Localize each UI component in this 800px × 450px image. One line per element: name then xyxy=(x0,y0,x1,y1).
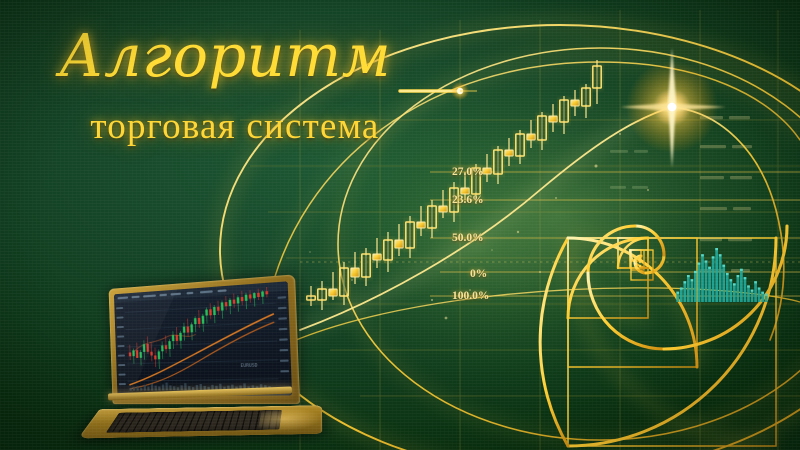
laptop-lid: EURUSD xyxy=(109,274,301,404)
fib-level-label: 100.0% xyxy=(452,290,489,302)
banner-canvas: 27.0%23.6%50.0%0%100.0% Алгоритм торгова… xyxy=(0,0,800,450)
laptop-keyboard[interactable] xyxy=(106,410,282,433)
fib-level-label: 50.0% xyxy=(452,232,484,244)
fib-level-label: 23.6% xyxy=(452,194,484,206)
trading-terminal-screen[interactable]: EURUSD xyxy=(114,281,292,396)
laptop: EURUSD xyxy=(88,282,333,450)
page-subtitle: торговая система xyxy=(0,105,470,148)
laptop-base xyxy=(78,405,322,438)
fib-level-label: 0% xyxy=(470,268,487,280)
arrow-right-glow-icon xyxy=(398,80,478,102)
fib-level-label: 27.0% xyxy=(452,166,484,178)
page-title: Алгоритм xyxy=(59,26,391,85)
terminal-watermark: EURUSD xyxy=(240,362,258,369)
laptop-bezel: EURUSD xyxy=(114,281,292,396)
laptop-palmrest-glow xyxy=(258,407,320,431)
